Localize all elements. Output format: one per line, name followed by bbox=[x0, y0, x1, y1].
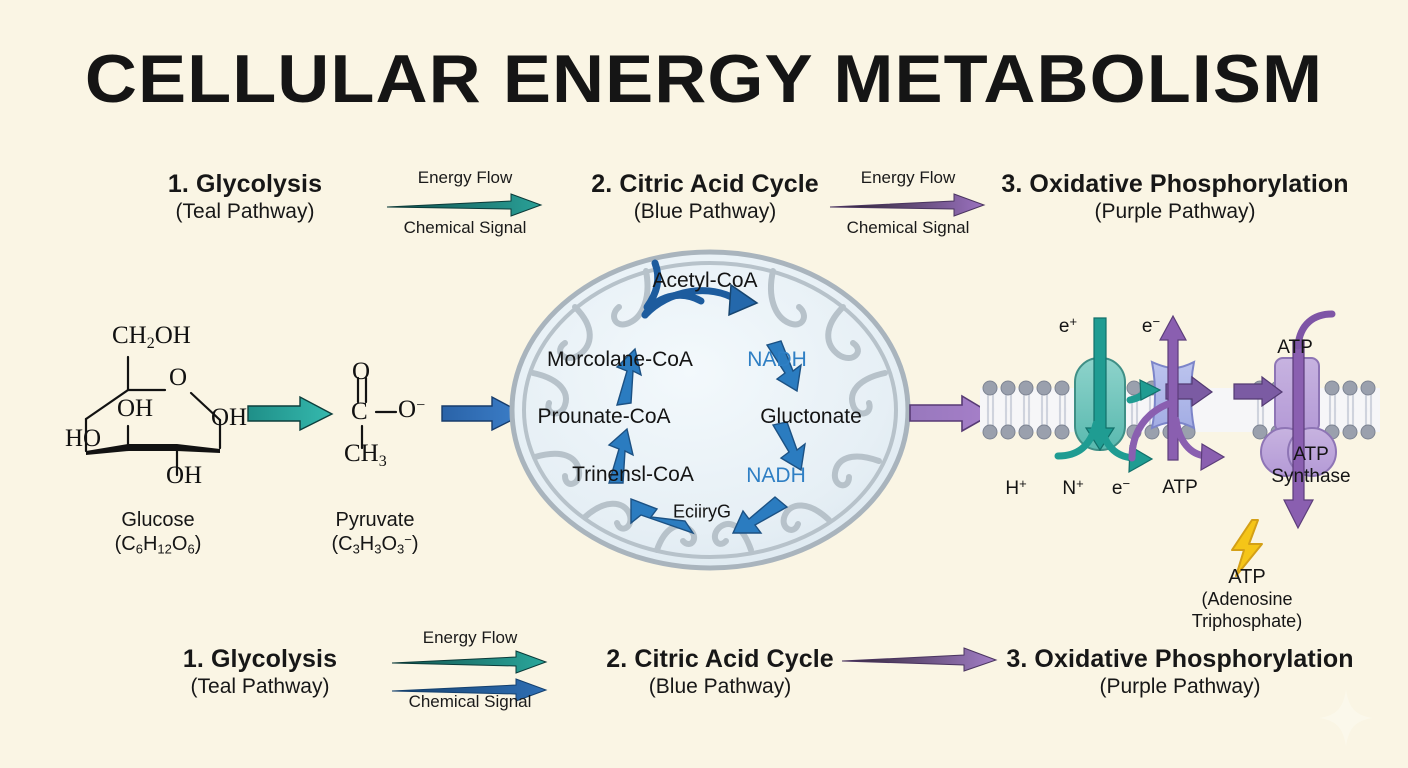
atp-output-subtitle-2: Triphosphate) bbox=[1132, 611, 1362, 633]
flow-caption-signal: Chemical Signal bbox=[385, 218, 545, 238]
diagram-canvas: CELLULAR ENERGY METABOLISM 1. Glycolysis… bbox=[0, 0, 1408, 768]
stage-title: 3. Oxidative Phosphorylation bbox=[1005, 645, 1355, 674]
etc-complex1-left-label: H+ bbox=[1005, 476, 1026, 500]
stage-subtitle: (Blue Pathway) bbox=[575, 675, 865, 699]
flow-legend-teal: Energy Flow Chemical Signal bbox=[385, 168, 545, 238]
cycle-node-morcolane-coa: Morcolane-CoA bbox=[547, 348, 693, 372]
etc-complex1-top-label: e+ bbox=[1059, 314, 1077, 338]
header-stage-citric: 2. Citric Acid Cycle (Blue Pathway) bbox=[560, 170, 850, 224]
etc-complex2-right-label: ATP bbox=[1162, 477, 1198, 499]
glucose-bottom-oh-label: OH bbox=[166, 462, 202, 490]
flow-caption-signal: Chemical Signal bbox=[390, 692, 550, 712]
stage-title: 1. Glycolysis bbox=[90, 170, 400, 199]
atp-output-caption: ATP (Adenosine Triphosphate) bbox=[1132, 565, 1362, 633]
cycle-node-eciiryg: EciiryG bbox=[673, 502, 731, 523]
pyruvate-formula: (C3H3O3−) bbox=[300, 532, 450, 557]
header-stage-glycolysis: 1. Glycolysis (Teal Pathway) bbox=[90, 170, 400, 224]
etc-synthase-atp-label: ATP bbox=[1277, 337, 1313, 359]
stage-title: 2. Citric Acid Cycle bbox=[575, 645, 865, 674]
stage-subtitle: (Purple Pathway) bbox=[1005, 675, 1355, 699]
stage-subtitle: (Teal Pathway) bbox=[90, 200, 400, 224]
stage-title: 3. Oxidative Phosphorylation bbox=[990, 170, 1360, 199]
arrow-teal-icon bbox=[385, 192, 545, 218]
synthase-name-line2: Synthase bbox=[1271, 466, 1350, 488]
arrow-glucose-to-pyruvate-icon bbox=[244, 395, 339, 435]
stage-subtitle: (Teal Pathway) bbox=[105, 675, 415, 699]
cycle-node-gluctonate: Gluctonate bbox=[760, 405, 862, 429]
synthase-name-line1: ATP bbox=[1271, 444, 1350, 466]
etc-complex1-right-label: N+ bbox=[1062, 476, 1083, 500]
pyruvate-name: Pyruvate bbox=[300, 508, 450, 532]
glucose-formula: (C6H12O6) bbox=[78, 532, 238, 557]
stage-title: 2. Citric Acid Cycle bbox=[560, 170, 850, 199]
flow-legend-purple: Energy Flow Chemical Signal bbox=[828, 168, 988, 238]
etc-complex2-left-label: e− bbox=[1112, 476, 1130, 500]
atp-output-subtitle-1: (Adenosine bbox=[1132, 589, 1362, 611]
cycle-node-nadh-2: NADH bbox=[746, 464, 806, 488]
glucose-ring-oxygen-label: O bbox=[169, 364, 187, 392]
flow-caption-energy: Energy Flow bbox=[390, 628, 550, 648]
footer-stage-citric: 2. Citric Acid Cycle (Blue Pathway) bbox=[575, 645, 865, 699]
flow-caption-energy: Energy Flow bbox=[385, 168, 545, 188]
glucose-inner-oh-label: OH bbox=[117, 395, 153, 423]
flow-caption-energy: Energy Flow bbox=[828, 168, 988, 188]
acetyl-coa-label: Acetyl-CoA bbox=[652, 269, 757, 293]
footer-arrow-purple-icon bbox=[840, 647, 1000, 673]
footer-flow-legend-double: Energy Flow Chemical Signal bbox=[390, 628, 550, 712]
page-title: CELLULAR ENERGY METABOLISM bbox=[0, 40, 1408, 118]
pyruvate-carbonyl-oxygen-label: O bbox=[352, 358, 370, 386]
footer-stage-oxphos: 3. Oxidative Phosphorylation (Purple Pat… bbox=[1005, 645, 1355, 699]
etc-synthase-name-label: ATP Synthase bbox=[1271, 444, 1350, 488]
header-stage-oxphos: 3. Oxidative Phosphorylation (Purple Pat… bbox=[990, 170, 1360, 224]
cycle-node-prounate-coa: Prounate-CoA bbox=[537, 405, 670, 429]
glucose-caption: Glucose (C6H12O6) bbox=[78, 508, 238, 558]
atp-output-title: ATP bbox=[1132, 565, 1362, 589]
cycle-node-nadh-1: NADH bbox=[747, 348, 807, 372]
stage-title: 1. Glycolysis bbox=[105, 645, 415, 674]
pyruvate-caption: Pyruvate (C3H3O3−) bbox=[300, 508, 450, 558]
pyruvate-oxygen-anion-label: O− bbox=[398, 396, 425, 424]
glucose-ch2oh-label: CH2OH bbox=[112, 322, 191, 353]
glucose-name: Glucose bbox=[78, 508, 238, 532]
pyruvate-methyl-label: CH3 bbox=[344, 440, 387, 471]
flow-caption-signal: Chemical Signal bbox=[828, 218, 988, 238]
glucose-ho-label: HO bbox=[65, 425, 101, 453]
stage-subtitle: (Purple Pathway) bbox=[990, 200, 1360, 224]
footer-stage-glycolysis: 1. Glycolysis (Teal Pathway) bbox=[105, 645, 415, 699]
four-point-star-icon bbox=[1318, 688, 1374, 748]
etc-complex2-top-label: e− bbox=[1142, 314, 1160, 338]
glucose-right-oh-label: OH bbox=[211, 404, 247, 432]
cycle-node-trinensl-coa: Trinensl-CoA bbox=[572, 463, 694, 487]
arrow-purple-icon bbox=[828, 192, 988, 218]
pyruvate-central-carbon-label: C bbox=[351, 398, 368, 426]
stage-subtitle: (Blue Pathway) bbox=[560, 200, 850, 224]
